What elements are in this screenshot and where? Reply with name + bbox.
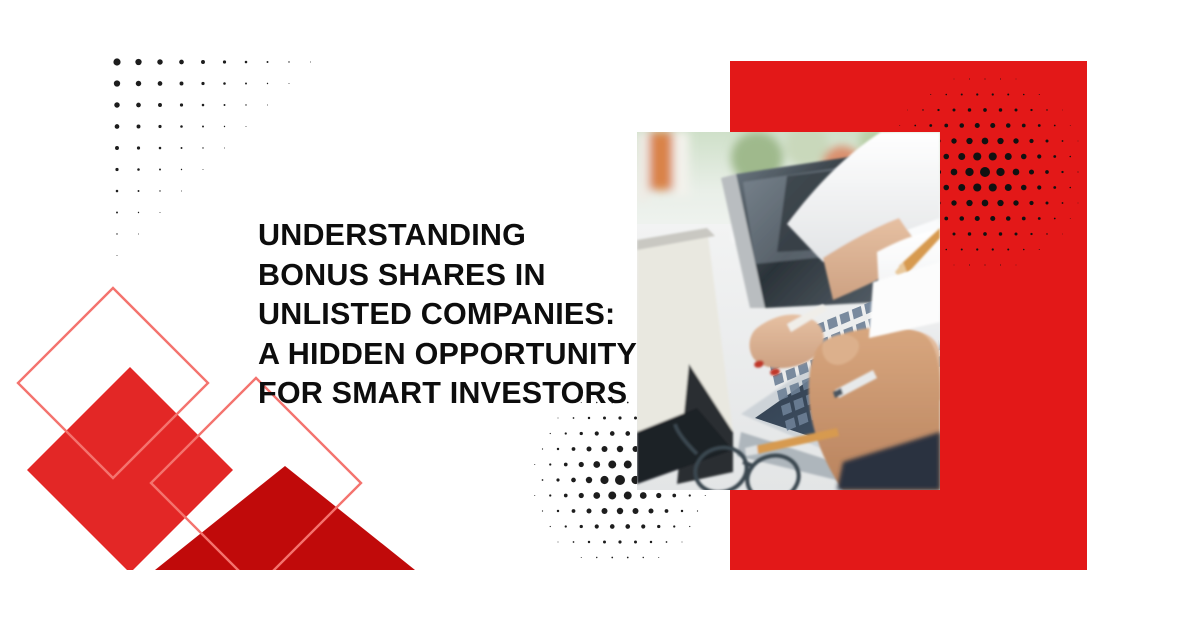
- title-line-1: UNDERSTANDING: [258, 216, 658, 256]
- hero-photo: [637, 132, 940, 490]
- bright-red-diamond-shape: [27, 367, 233, 573]
- dark-red-triangle-shape: [155, 466, 415, 570]
- photo-illustration: [637, 132, 940, 490]
- title-line-5: FOR SMART INVESTORS: [258, 374, 658, 414]
- page-title: UNDERSTANDING BONUS SHARES IN UNLISTED C…: [258, 216, 658, 414]
- banner-canvas: UNDERSTANDING BONUS SHARES IN UNLISTED C…: [0, 0, 1200, 630]
- title-line-2: BONUS SHARES IN: [258, 256, 658, 296]
- diamond-outline-upper-shape: [18, 288, 208, 478]
- title-line-3: UNLISTED COMPANIES:: [258, 295, 658, 335]
- title-line-4: A HIDDEN OPPORTUNITY: [258, 335, 658, 375]
